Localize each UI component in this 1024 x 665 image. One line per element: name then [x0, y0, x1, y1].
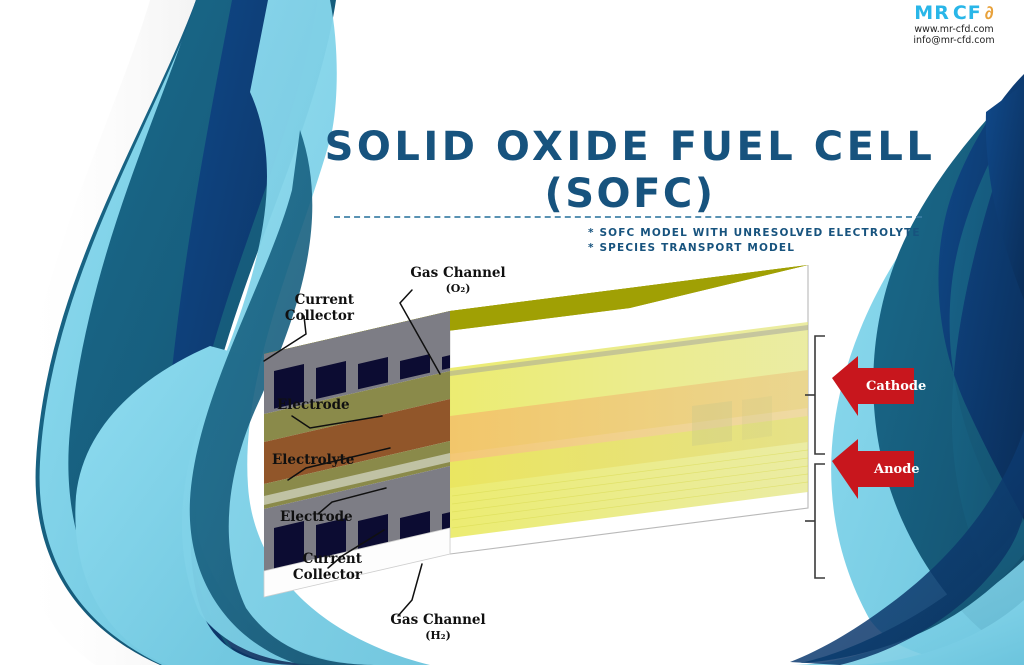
label-current-collector-bottom-l1: Current — [276, 551, 362, 567]
label-gas-channel-bottom-text: Gas Channel — [378, 612, 498, 628]
bullet-item-1: * SPECIES TRANSPORT MODEL — [588, 241, 948, 256]
region-label-anode: Anode — [874, 463, 920, 476]
title-block: SOLID OXIDE FUEL CELL (SOFC) — [300, 124, 960, 218]
label-gas-channel-top: Gas Channel (O₂) — [398, 265, 518, 297]
label-electrolyte: Electrolyte — [272, 452, 354, 468]
logo-word-cf: CF — [953, 4, 982, 23]
label-gas-channel-top-text: Gas Channel — [398, 265, 518, 281]
label-gas-channel-bottom: Gas Channel (H₂) — [378, 612, 498, 644]
label-gas-channel-top-sub: (O₂) — [398, 281, 518, 297]
bullet-list: * SOFC MODEL WITH UNRESOLVED ELECTROLYTE… — [588, 226, 948, 256]
label-gas-channel-bottom-sub: (H₂) — [378, 628, 498, 644]
page-subtitle-acronym: (SOFC) — [300, 171, 960, 218]
label-electrode-bottom: Electrode — [280, 509, 353, 525]
label-current-collector-top-l1: Current — [268, 292, 354, 308]
bullet-item-0: * SOFC MODEL WITH UNRESOLVED ELECTROLYTE — [588, 226, 948, 241]
logo-infinity-icon: ∂ — [985, 4, 994, 22]
logo-website[interactable]: www.mr-cfd.com — [888, 24, 1020, 35]
title-divider — [334, 216, 922, 218]
label-current-collector-bottom: Current Collector — [276, 551, 362, 583]
poster-canvas: MR CF ∂ www.mr-cfd.com info@mr-cfd.com S… — [0, 0, 1024, 665]
logo-email[interactable]: info@mr-cfd.com — [888, 35, 1020, 46]
page-title: SOLID OXIDE FUEL CELL — [300, 124, 960, 171]
logo-word-mr: MR — [914, 4, 950, 23]
label-electrode-top: Electrode — [277, 397, 350, 413]
label-current-collector-top: Current Collector — [268, 292, 354, 324]
brand-logo: MR CF ∂ www.mr-cfd.com info@mr-cfd.com — [888, 2, 1020, 46]
region-label-cathode: Cathode — [866, 380, 926, 393]
sofc-diagram: Cathode Anode — [262, 256, 922, 664]
label-current-collector-top-l2: Collector — [268, 308, 354, 324]
logo-mark: MR CF ∂ — [888, 2, 1020, 24]
label-current-collector-bottom-l2: Collector — [276, 567, 362, 583]
sofc-diagram-svg — [262, 256, 922, 664]
